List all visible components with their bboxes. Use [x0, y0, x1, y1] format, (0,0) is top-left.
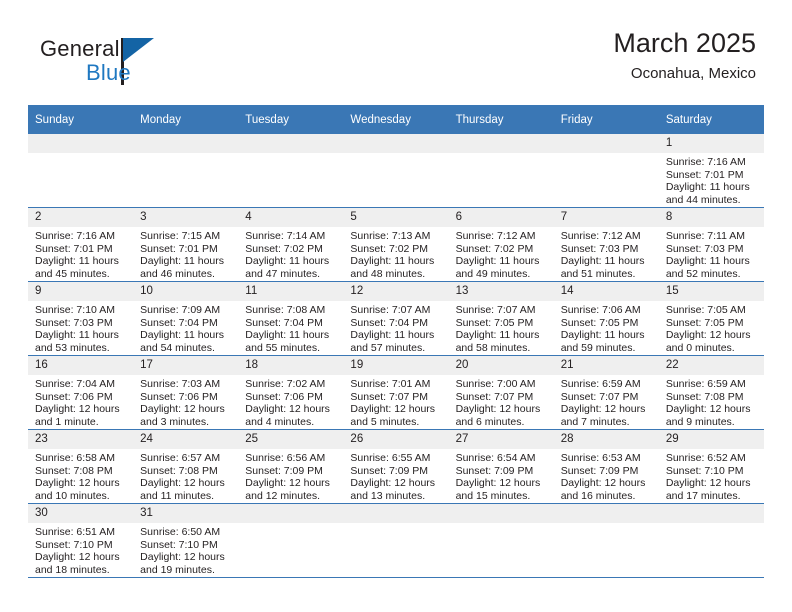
- calendar-day-cell[interactable]: 12Sunrise: 7:07 AMSunset: 7:04 PMDayligh…: [343, 282, 448, 356]
- sunset-text: Sunset: 7:09 PM: [561, 465, 653, 478]
- day-number: 25: [238, 430, 343, 449]
- sunset-text: Sunset: 7:08 PM: [140, 465, 232, 478]
- daylight-text: Daylight: 11 hours and 58 minutes.: [456, 329, 548, 354]
- sunset-text: Sunset: 7:05 PM: [666, 317, 758, 330]
- sunrise-text: Sunrise: 7:07 AM: [456, 304, 548, 317]
- calendar-day-cell[interactable]: 5Sunrise: 7:13 AMSunset: 7:02 PMDaylight…: [343, 208, 448, 282]
- sunset-text: Sunset: 7:09 PM: [350, 465, 442, 478]
- day-number: 1: [659, 134, 764, 153]
- daylight-text: Daylight: 11 hours and 53 minutes.: [35, 329, 127, 354]
- calendar-day-cell[interactable]: 29Sunrise: 6:52 AMSunset: 7:10 PMDayligh…: [659, 430, 764, 504]
- calendar-day-cell[interactable]: 10Sunrise: 7:09 AMSunset: 7:04 PMDayligh…: [133, 282, 238, 356]
- day-number: 13: [449, 282, 554, 301]
- general-blue-logo[interactable]: General Blue: [40, 36, 220, 92]
- sunrise-text: Sunrise: 7:01 AM: [350, 378, 442, 391]
- day-details: Sunrise: 6:52 AMSunset: 7:10 PMDaylight:…: [659, 449, 764, 502]
- sunset-text: Sunset: 7:10 PM: [35, 539, 127, 552]
- day-number: 23: [28, 430, 133, 449]
- calendar-body: 1Sunrise: 7:16 AMSunset: 7:01 PMDaylight…: [28, 134, 764, 578]
- daylight-text: Daylight: 12 hours and 16 minutes.: [561, 477, 653, 502]
- day-number: 19: [343, 356, 448, 375]
- calendar-header-row: Sunday Monday Tuesday Wednesday Thursday…: [28, 105, 764, 134]
- sunrise-text: Sunrise: 7:03 AM: [140, 378, 232, 391]
- sunrise-text: Sunrise: 7:08 AM: [245, 304, 337, 317]
- calendar-day-cell[interactable]: 6Sunrise: 7:12 AMSunset: 7:02 PMDaylight…: [449, 208, 554, 282]
- calendar-cell-empty: [238, 504, 343, 578]
- sunrise-text: Sunrise: 7:04 AM: [35, 378, 127, 391]
- day-details: Sunrise: 7:03 AMSunset: 7:06 PMDaylight:…: [133, 375, 238, 428]
- calendar-day-cell[interactable]: 31Sunrise: 6:50 AMSunset: 7:10 PMDayligh…: [133, 504, 238, 578]
- day-details: Sunrise: 6:59 AMSunset: 7:07 PMDaylight:…: [554, 375, 659, 428]
- day-number: [554, 134, 659, 153]
- brand-name-blue: Blue: [86, 60, 131, 86]
- day-details: Sunrise: 6:56 AMSunset: 7:09 PMDaylight:…: [238, 449, 343, 502]
- weekday-header-tuesday: Tuesday: [238, 105, 343, 134]
- daylight-text: Daylight: 11 hours and 59 minutes.: [561, 329, 653, 354]
- day-number: 17: [133, 356, 238, 375]
- day-number: 7: [554, 208, 659, 227]
- calendar-day-cell[interactable]: 24Sunrise: 6:57 AMSunset: 7:08 PMDayligh…: [133, 430, 238, 504]
- calendar-cell-empty: [554, 134, 659, 208]
- sunset-text: Sunset: 7:02 PM: [245, 243, 337, 256]
- daylight-text: Daylight: 12 hours and 9 minutes.: [666, 403, 758, 428]
- sunset-text: Sunset: 7:01 PM: [666, 169, 758, 182]
- calendar-day-cell[interactable]: 14Sunrise: 7:06 AMSunset: 7:05 PMDayligh…: [554, 282, 659, 356]
- day-details: Sunrise: 7:16 AMSunset: 7:01 PMDaylight:…: [28, 227, 133, 280]
- sunset-text: Sunset: 7:05 PM: [456, 317, 548, 330]
- calendar-day-cell[interactable]: 22Sunrise: 6:59 AMSunset: 7:08 PMDayligh…: [659, 356, 764, 430]
- calendar-week-row: 16Sunrise: 7:04 AMSunset: 7:06 PMDayligh…: [28, 356, 764, 430]
- sunrise-text: Sunrise: 7:00 AM: [456, 378, 548, 391]
- day-details: Sunrise: 7:04 AMSunset: 7:06 PMDaylight:…: [28, 375, 133, 428]
- sunset-text: Sunset: 7:02 PM: [456, 243, 548, 256]
- day-number: 11: [238, 282, 343, 301]
- sunrise-text: Sunrise: 7:05 AM: [666, 304, 758, 317]
- day-number: 8: [659, 208, 764, 227]
- day-details: Sunrise: 6:57 AMSunset: 7:08 PMDaylight:…: [133, 449, 238, 502]
- calendar-day-cell[interactable]: 23Sunrise: 6:58 AMSunset: 7:08 PMDayligh…: [28, 430, 133, 504]
- calendar-day-cell[interactable]: 21Sunrise: 6:59 AMSunset: 7:07 PMDayligh…: [554, 356, 659, 430]
- day-number: [28, 134, 133, 153]
- daylight-text: Daylight: 12 hours and 10 minutes.: [35, 477, 127, 502]
- day-details: Sunrise: 7:08 AMSunset: 7:04 PMDaylight:…: [238, 301, 343, 354]
- daylight-text: Daylight: 12 hours and 1 minute.: [35, 403, 127, 428]
- daylight-text: Daylight: 12 hours and 11 minutes.: [140, 477, 232, 502]
- day-number: [449, 134, 554, 153]
- day-number: 4: [238, 208, 343, 227]
- day-number: 14: [554, 282, 659, 301]
- calendar-week-row: 23Sunrise: 6:58 AMSunset: 7:08 PMDayligh…: [28, 430, 764, 504]
- calendar-day-cell[interactable]: 28Sunrise: 6:53 AMSunset: 7:09 PMDayligh…: [554, 430, 659, 504]
- sunset-text: Sunset: 7:03 PM: [561, 243, 653, 256]
- calendar-day-cell[interactable]: 3Sunrise: 7:15 AMSunset: 7:01 PMDaylight…: [133, 208, 238, 282]
- calendar-page: General Blue March 2025 Oconahua, Mexico…: [0, 0, 792, 612]
- sunset-text: Sunset: 7:07 PM: [561, 391, 653, 404]
- day-details: Sunrise: 7:05 AMSunset: 7:05 PMDaylight:…: [659, 301, 764, 354]
- daylight-text: Daylight: 12 hours and 18 minutes.: [35, 551, 127, 576]
- daylight-text: Daylight: 11 hours and 57 minutes.: [350, 329, 442, 354]
- daylight-text: Daylight: 11 hours and 48 minutes.: [350, 255, 442, 280]
- calendar-day-cell[interactable]: 25Sunrise: 6:56 AMSunset: 7:09 PMDayligh…: [238, 430, 343, 504]
- sunset-text: Sunset: 7:04 PM: [140, 317, 232, 330]
- day-details: Sunrise: 7:15 AMSunset: 7:01 PMDaylight:…: [133, 227, 238, 280]
- sunrise-text: Sunrise: 6:52 AM: [666, 452, 758, 465]
- daylight-text: Daylight: 11 hours and 54 minutes.: [140, 329, 232, 354]
- calendar-day-cell[interactable]: 27Sunrise: 6:54 AMSunset: 7:09 PMDayligh…: [449, 430, 554, 504]
- day-number: [238, 504, 343, 523]
- day-details: Sunrise: 7:10 AMSunset: 7:03 PMDaylight:…: [28, 301, 133, 354]
- daylight-text: Daylight: 11 hours and 44 minutes.: [666, 181, 758, 206]
- weekday-header-thursday: Thursday: [449, 105, 554, 134]
- sunset-text: Sunset: 7:10 PM: [140, 539, 232, 552]
- day-number: 6: [449, 208, 554, 227]
- sunset-text: Sunset: 7:10 PM: [666, 465, 758, 478]
- weekday-header-friday: Friday: [554, 105, 659, 134]
- sunrise-text: Sunrise: 7:15 AM: [140, 230, 232, 243]
- daylight-text: Daylight: 11 hours and 47 minutes.: [245, 255, 337, 280]
- day-details: Sunrise: 7:07 AMSunset: 7:04 PMDaylight:…: [343, 301, 448, 354]
- day-details: Sunrise: 6:58 AMSunset: 7:08 PMDaylight:…: [28, 449, 133, 502]
- day-number: 18: [238, 356, 343, 375]
- sunrise-text: Sunrise: 7:11 AM: [666, 230, 758, 243]
- day-details: Sunrise: 7:06 AMSunset: 7:05 PMDaylight:…: [554, 301, 659, 354]
- daylight-text: Daylight: 12 hours and 3 minutes.: [140, 403, 232, 428]
- day-number: 16: [28, 356, 133, 375]
- sunset-text: Sunset: 7:06 PM: [245, 391, 337, 404]
- daylight-text: Daylight: 12 hours and 13 minutes.: [350, 477, 442, 502]
- day-details: Sunrise: 7:01 AMSunset: 7:07 PMDaylight:…: [343, 375, 448, 428]
- sunset-text: Sunset: 7:08 PM: [666, 391, 758, 404]
- day-number: [343, 504, 448, 523]
- calendar-day-cell[interactable]: 17Sunrise: 7:03 AMSunset: 7:06 PMDayligh…: [133, 356, 238, 430]
- day-number: 10: [133, 282, 238, 301]
- day-details: Sunrise: 7:14 AMSunset: 7:02 PMDaylight:…: [238, 227, 343, 280]
- sunset-text: Sunset: 7:04 PM: [245, 317, 337, 330]
- sunset-text: Sunset: 7:05 PM: [561, 317, 653, 330]
- calendar-day-cell[interactable]: 2Sunrise: 7:16 AMSunset: 7:01 PMDaylight…: [28, 208, 133, 282]
- sunset-text: Sunset: 7:04 PM: [350, 317, 442, 330]
- day-number: 5: [343, 208, 448, 227]
- calendar-grid: Sunday Monday Tuesday Wednesday Thursday…: [28, 105, 764, 578]
- daylight-text: Daylight: 12 hours and 7 minutes.: [561, 403, 653, 428]
- sunset-text: Sunset: 7:09 PM: [456, 465, 548, 478]
- day-number: [133, 134, 238, 153]
- sunset-text: Sunset: 7:07 PM: [456, 391, 548, 404]
- sunrise-text: Sunrise: 7:14 AM: [245, 230, 337, 243]
- calendar-day-cell[interactable]: 8Sunrise: 7:11 AMSunset: 7:03 PMDaylight…: [659, 208, 764, 282]
- sunset-text: Sunset: 7:02 PM: [350, 243, 442, 256]
- calendar-day-cell[interactable]: 16Sunrise: 7:04 AMSunset: 7:06 PMDayligh…: [28, 356, 133, 430]
- day-number: 30: [28, 504, 133, 523]
- day-details: Sunrise: 6:51 AMSunset: 7:10 PMDaylight:…: [28, 523, 133, 576]
- day-number: [659, 504, 764, 523]
- day-number: 21: [554, 356, 659, 375]
- daylight-text: Daylight: 12 hours and 17 minutes.: [666, 477, 758, 502]
- sunset-text: Sunset: 7:01 PM: [35, 243, 127, 256]
- calendar-week-row: 9Sunrise: 7:10 AMSunset: 7:03 PMDaylight…: [28, 282, 764, 356]
- day-details: Sunrise: 7:12 AMSunset: 7:02 PMDaylight:…: [449, 227, 554, 280]
- calendar-day-cell[interactable]: 20Sunrise: 7:00 AMSunset: 7:07 PMDayligh…: [449, 356, 554, 430]
- sunset-text: Sunset: 7:03 PM: [666, 243, 758, 256]
- calendar-week-row: 2Sunrise: 7:16 AMSunset: 7:01 PMDaylight…: [28, 208, 764, 282]
- title-block: March 2025 Oconahua, Mexico: [613, 28, 756, 82]
- calendar-cell-empty: [449, 504, 554, 578]
- page-title: March 2025: [613, 28, 756, 58]
- day-number: 29: [659, 430, 764, 449]
- sunrise-text: Sunrise: 7:16 AM: [35, 230, 127, 243]
- daylight-text: Daylight: 12 hours and 4 minutes.: [245, 403, 337, 428]
- sunrise-text: Sunrise: 7:16 AM: [666, 156, 758, 169]
- weekday-header-wednesday: Wednesday: [343, 105, 448, 134]
- brand-name-general: General: [40, 36, 120, 62]
- day-number: 15: [659, 282, 764, 301]
- day-details: Sunrise: 7:02 AMSunset: 7:06 PMDaylight:…: [238, 375, 343, 428]
- sunrise-text: Sunrise: 6:55 AM: [350, 452, 442, 465]
- day-number: [554, 504, 659, 523]
- calendar-day-cell[interactable]: 30Sunrise: 6:51 AMSunset: 7:10 PMDayligh…: [28, 504, 133, 578]
- calendar-cell-empty: [133, 134, 238, 208]
- calendar-day-cell[interactable]: 7Sunrise: 7:12 AMSunset: 7:03 PMDaylight…: [554, 208, 659, 282]
- calendar-day-cell[interactable]: 26Sunrise: 6:55 AMSunset: 7:09 PMDayligh…: [343, 430, 448, 504]
- day-number: 9: [28, 282, 133, 301]
- sunrise-text: Sunrise: 6:54 AM: [456, 452, 548, 465]
- sunrise-text: Sunrise: 6:59 AM: [561, 378, 653, 391]
- sunrise-text: Sunrise: 7:06 AM: [561, 304, 653, 317]
- calendar-cell-empty: [343, 504, 448, 578]
- sunrise-text: Sunrise: 7:07 AM: [350, 304, 442, 317]
- calendar-day-cell[interactable]: 18Sunrise: 7:02 AMSunset: 7:06 PMDayligh…: [238, 356, 343, 430]
- weekday-header-monday: Monday: [133, 105, 238, 134]
- sunset-text: Sunset: 7:09 PM: [245, 465, 337, 478]
- day-details: Sunrise: 6:55 AMSunset: 7:09 PMDaylight:…: [343, 449, 448, 502]
- day-number: 24: [133, 430, 238, 449]
- calendar-cell-empty: [28, 134, 133, 208]
- day-details: Sunrise: 6:54 AMSunset: 7:09 PMDaylight:…: [449, 449, 554, 502]
- day-details: Sunrise: 7:00 AMSunset: 7:07 PMDaylight:…: [449, 375, 554, 428]
- sunset-text: Sunset: 7:07 PM: [350, 391, 442, 404]
- daylight-text: Daylight: 11 hours and 51 minutes.: [561, 255, 653, 280]
- sunset-text: Sunset: 7:01 PM: [140, 243, 232, 256]
- day-number: [238, 134, 343, 153]
- sunset-text: Sunset: 7:08 PM: [35, 465, 127, 478]
- calendar-week-row: 30Sunrise: 6:51 AMSunset: 7:10 PMDayligh…: [28, 504, 764, 578]
- daylight-text: Daylight: 11 hours and 49 minutes.: [456, 255, 548, 280]
- calendar-day-cell[interactable]: 4Sunrise: 7:14 AMSunset: 7:02 PMDaylight…: [238, 208, 343, 282]
- sunrise-text: Sunrise: 6:58 AM: [35, 452, 127, 465]
- day-number: 20: [449, 356, 554, 375]
- sunrise-text: Sunrise: 6:59 AM: [666, 378, 758, 391]
- sunrise-text: Sunrise: 7:02 AM: [245, 378, 337, 391]
- sunrise-text: Sunrise: 7:13 AM: [350, 230, 442, 243]
- day-number: 2: [28, 208, 133, 227]
- sunset-text: Sunset: 7:03 PM: [35, 317, 127, 330]
- page-subtitle: Oconahua, Mexico: [613, 65, 756, 82]
- calendar-cell-empty: [449, 134, 554, 208]
- daylight-text: Daylight: 11 hours and 55 minutes.: [245, 329, 337, 354]
- daylight-text: Daylight: 12 hours and 0 minutes.: [666, 329, 758, 354]
- daylight-text: Daylight: 12 hours and 5 minutes.: [350, 403, 442, 428]
- weekday-header-saturday: Saturday: [659, 105, 764, 134]
- day-number: 3: [133, 208, 238, 227]
- logo-triangle-icon: [123, 38, 154, 62]
- sunrise-text: Sunrise: 7:12 AM: [561, 230, 653, 243]
- day-number: 12: [343, 282, 448, 301]
- daylight-text: Daylight: 12 hours and 19 minutes.: [140, 551, 232, 576]
- day-number: 31: [133, 504, 238, 523]
- calendar-day-cell[interactable]: 15Sunrise: 7:05 AMSunset: 7:05 PMDayligh…: [659, 282, 764, 356]
- sunrise-text: Sunrise: 6:53 AM: [561, 452, 653, 465]
- sunrise-text: Sunrise: 7:10 AM: [35, 304, 127, 317]
- calendar-day-cell[interactable]: 1Sunrise: 7:16 AMSunset: 7:01 PMDaylight…: [659, 134, 764, 208]
- page-header: General Blue March 2025 Oconahua, Mexico: [0, 0, 792, 104]
- day-details: Sunrise: 6:50 AMSunset: 7:10 PMDaylight:…: [133, 523, 238, 576]
- day-details: Sunrise: 7:13 AMSunset: 7:02 PMDaylight:…: [343, 227, 448, 280]
- day-details: Sunrise: 7:11 AMSunset: 7:03 PMDaylight:…: [659, 227, 764, 280]
- day-number: [343, 134, 448, 153]
- day-details: Sunrise: 7:16 AMSunset: 7:01 PMDaylight:…: [659, 153, 764, 206]
- day-number: 22: [659, 356, 764, 375]
- day-details: Sunrise: 7:07 AMSunset: 7:05 PMDaylight:…: [449, 301, 554, 354]
- calendar-week-row: 1Sunrise: 7:16 AMSunset: 7:01 PMDaylight…: [28, 134, 764, 208]
- daylight-text: Daylight: 12 hours and 6 minutes.: [456, 403, 548, 428]
- day-number: 28: [554, 430, 659, 449]
- calendar-cell-empty: [554, 504, 659, 578]
- daylight-text: Daylight: 12 hours and 15 minutes.: [456, 477, 548, 502]
- calendar-day-cell[interactable]: 11Sunrise: 7:08 AMSunset: 7:04 PMDayligh…: [238, 282, 343, 356]
- daylight-text: Daylight: 12 hours and 12 minutes.: [245, 477, 337, 502]
- calendar-cell-empty: [343, 134, 448, 208]
- calendar-day-cell[interactable]: 19Sunrise: 7:01 AMSunset: 7:07 PMDayligh…: [343, 356, 448, 430]
- day-details: Sunrise: 6:53 AMSunset: 7:09 PMDaylight:…: [554, 449, 659, 502]
- day-number: 26: [343, 430, 448, 449]
- calendar-day-cell[interactable]: 9Sunrise: 7:10 AMSunset: 7:03 PMDaylight…: [28, 282, 133, 356]
- daylight-text: Daylight: 11 hours and 46 minutes.: [140, 255, 232, 280]
- daylight-text: Daylight: 11 hours and 45 minutes.: [35, 255, 127, 280]
- calendar-cell-empty: [659, 504, 764, 578]
- sunset-text: Sunset: 7:06 PM: [35, 391, 127, 404]
- daylight-text: Daylight: 11 hours and 52 minutes.: [666, 255, 758, 280]
- sunrise-text: Sunrise: 7:09 AM: [140, 304, 232, 317]
- sunrise-text: Sunrise: 6:51 AM: [35, 526, 127, 539]
- day-number: 27: [449, 430, 554, 449]
- day-number: [449, 504, 554, 523]
- day-details: Sunrise: 7:09 AMSunset: 7:04 PMDaylight:…: [133, 301, 238, 354]
- day-details: Sunrise: 6:59 AMSunset: 7:08 PMDaylight:…: [659, 375, 764, 428]
- calendar-cell-empty: [238, 134, 343, 208]
- calendar-day-cell[interactable]: 13Sunrise: 7:07 AMSunset: 7:05 PMDayligh…: [449, 282, 554, 356]
- day-details: Sunrise: 7:12 AMSunset: 7:03 PMDaylight:…: [554, 227, 659, 280]
- sunrise-text: Sunrise: 6:57 AM: [140, 452, 232, 465]
- sunrise-text: Sunrise: 6:50 AM: [140, 526, 232, 539]
- sunrise-text: Sunrise: 6:56 AM: [245, 452, 337, 465]
- weekday-header-sunday: Sunday: [28, 105, 133, 134]
- sunset-text: Sunset: 7:06 PM: [140, 391, 232, 404]
- sunrise-text: Sunrise: 7:12 AM: [456, 230, 548, 243]
